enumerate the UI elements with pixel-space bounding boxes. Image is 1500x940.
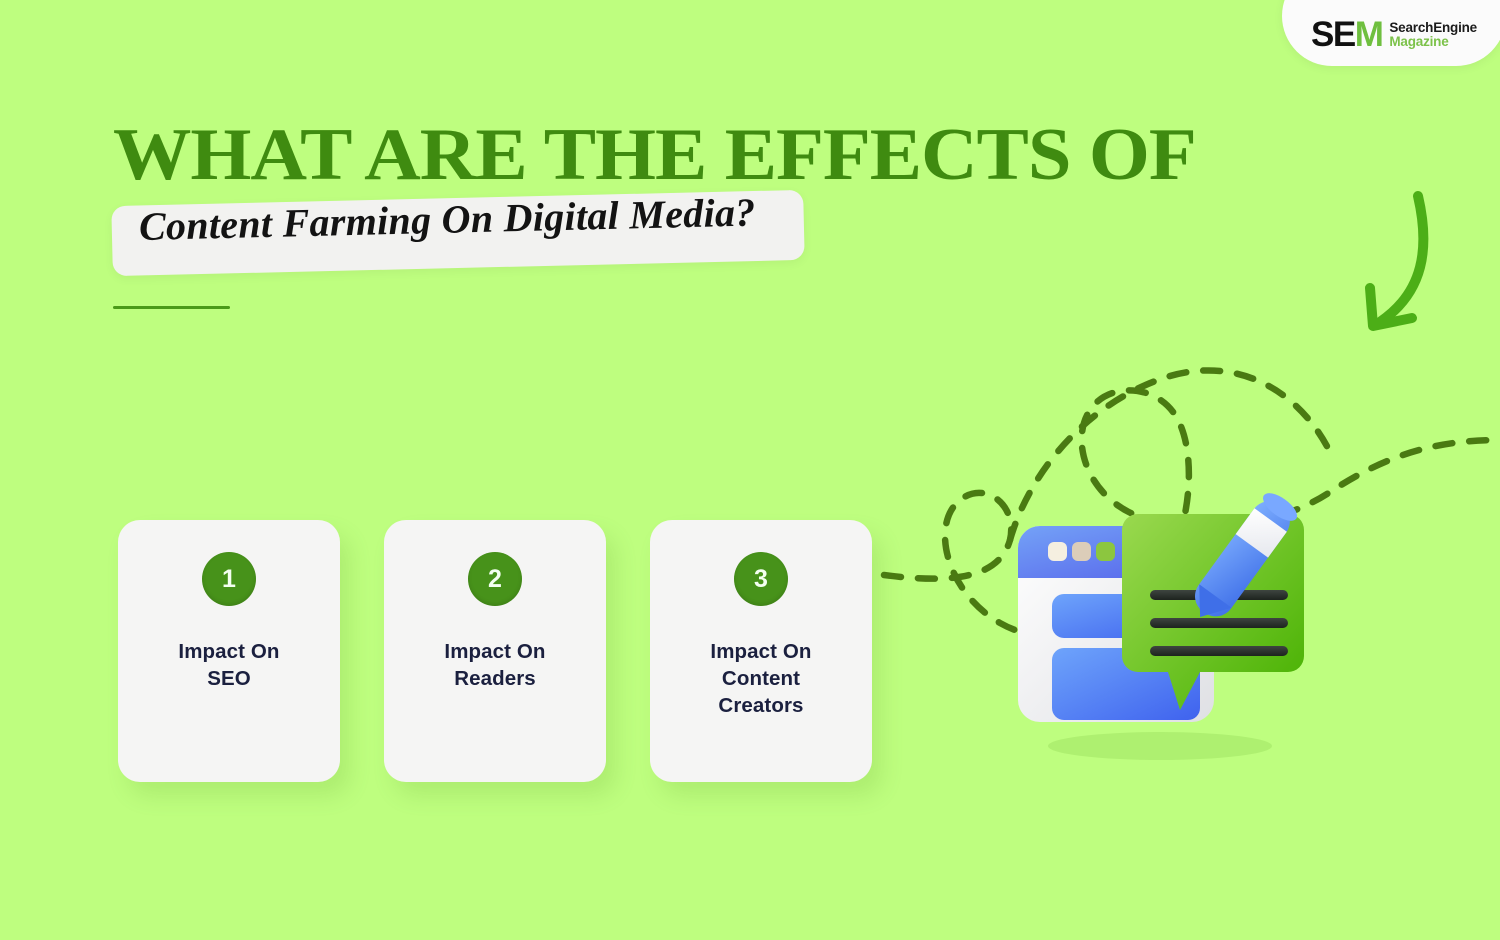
- logo-line-2: Magazine: [1389, 35, 1477, 49]
- card-title-line: Impact On: [178, 638, 279, 665]
- card-title-line: Readers: [444, 665, 545, 692]
- curved-down-arrow: [1370, 196, 1423, 326]
- card-impact-on-seo[interactable]: 1 Impact On SEO: [118, 520, 340, 782]
- note-text-line: [1150, 618, 1288, 628]
- cards-row: 1 Impact On SEO 2 Impact On Readers 3 Im…: [118, 520, 872, 782]
- card-title-line: Impact On: [710, 638, 811, 665]
- card-title-line: SEO: [178, 665, 279, 692]
- logo-mark-green: M: [1355, 15, 1383, 54]
- card-number-badge: 3: [734, 552, 788, 606]
- card-title-line: Content: [710, 665, 811, 692]
- browser-dot: [1096, 542, 1115, 561]
- card-title-line: Impact On: [444, 638, 545, 665]
- browser-dot: [1048, 542, 1067, 561]
- note-text-line: [1150, 646, 1288, 656]
- infographic-canvas: SEM SearchEngine Magazine WHAT ARE THE E…: [0, 0, 1500, 940]
- card-title: Impact On SEO: [164, 638, 293, 692]
- logo-mark-dark: SE: [1311, 15, 1355, 54]
- illustration-shadow: [1048, 732, 1272, 760]
- browser-dot: [1072, 542, 1091, 561]
- card-impact-on-content-creators[interactable]: 3 Impact On Content Creators: [650, 520, 872, 782]
- card-title: Impact On Readers: [430, 638, 559, 692]
- card-title: Impact On Content Creators: [696, 638, 825, 719]
- card-number-badge: 1: [202, 552, 256, 606]
- title-divider: [113, 306, 230, 309]
- browser-note-pencil-3d: [1010, 478, 1310, 768]
- sem-logo-icon: SEM: [1311, 17, 1382, 52]
- page-title: WHAT ARE THE EFFECTS OF: [113, 118, 1196, 192]
- sem-logo[interactable]: SEM SearchEngine Magazine: [1282, 0, 1500, 66]
- card-impact-on-readers[interactable]: 2 Impact On Readers: [384, 520, 606, 782]
- card-number-badge: 2: [468, 552, 522, 606]
- card-title-line: Creators: [710, 692, 811, 719]
- logo-line-1: SearchEngine: [1389, 21, 1477, 35]
